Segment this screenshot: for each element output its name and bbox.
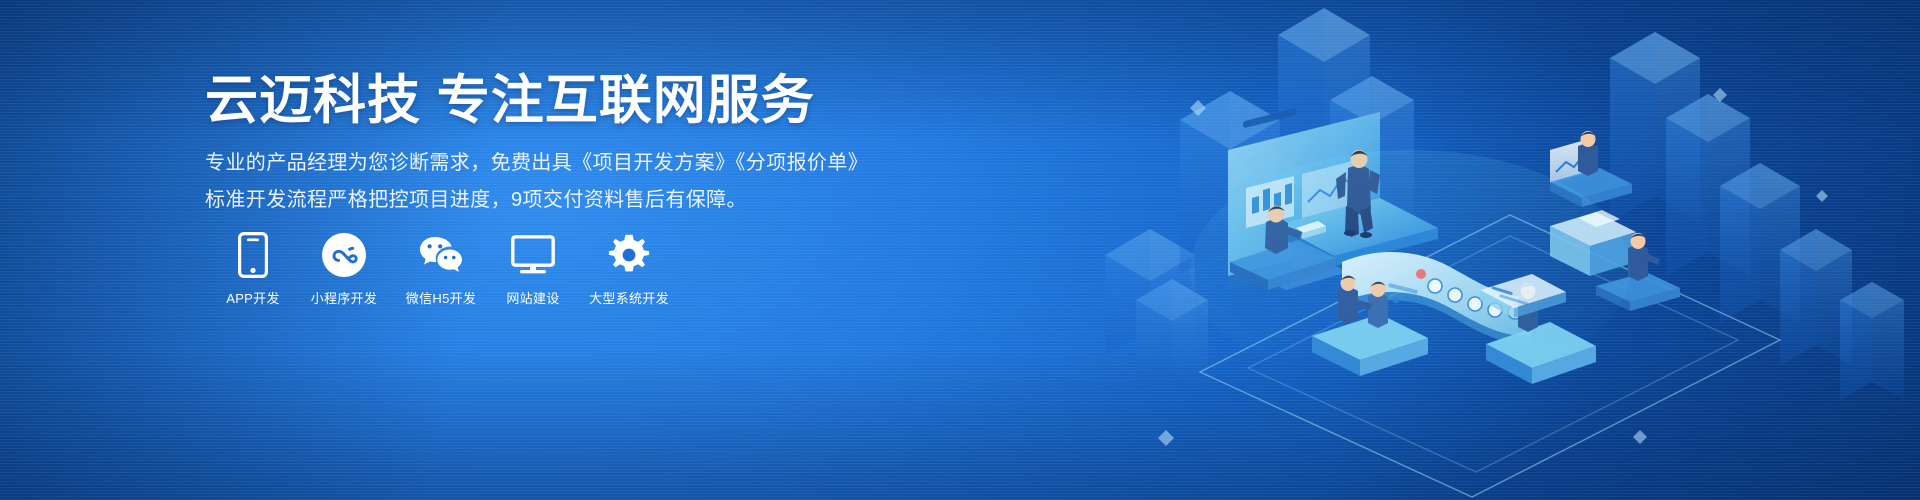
mobile-phone-icon bbox=[230, 232, 276, 278]
subtitle-line-2: 标准开发流程严格把控项目进度，9项交付资料售后有保障。 bbox=[205, 182, 885, 219]
service-list: APP开发 小程序开发 bbox=[210, 232, 682, 305]
mini-program-icon bbox=[321, 232, 367, 278]
monitor-icon bbox=[510, 232, 556, 278]
banner-subtitle: 专业的产品经理为您诊断需求，免费出具《项目开发方案》《分项报价单》 标准开发流程… bbox=[205, 145, 885, 219]
banner-title: 云迈科技 专注互联网服务 bbox=[205, 74, 815, 127]
banner-content: 云迈科技 专注互联网服务 专业的产品经理为您诊断需求，免费出具《项目开发方案》《… bbox=[205, 0, 905, 500]
isometric-illustration bbox=[1080, 0, 1920, 500]
gear-icon bbox=[606, 232, 652, 278]
service-label: 大型系统开发 bbox=[589, 292, 669, 305]
service-item-wechat[interactable]: 微信H5开发 bbox=[392, 232, 490, 305]
service-item-miniprogram[interactable]: 小程序开发 bbox=[296, 232, 392, 305]
service-item-system[interactable]: 大型系统开发 bbox=[576, 232, 682, 305]
service-label: APP开发 bbox=[226, 292, 280, 305]
hero-banner: 云迈科技 专注互联网服务 专业的产品经理为您诊断需求，免费出具《项目开发方案》《… bbox=[0, 0, 1920, 500]
service-label: 微信H5开发 bbox=[406, 292, 476, 305]
wechat-icon bbox=[418, 232, 464, 278]
service-label: 小程序开发 bbox=[311, 292, 378, 305]
service-item-app[interactable]: APP开发 bbox=[210, 232, 296, 305]
service-item-website[interactable]: 网站建设 bbox=[490, 232, 576, 305]
subtitle-line-1: 专业的产品经理为您诊断需求，免费出具《项目开发方案》《分项报价单》 bbox=[205, 145, 885, 182]
service-label: 网站建设 bbox=[506, 292, 559, 305]
